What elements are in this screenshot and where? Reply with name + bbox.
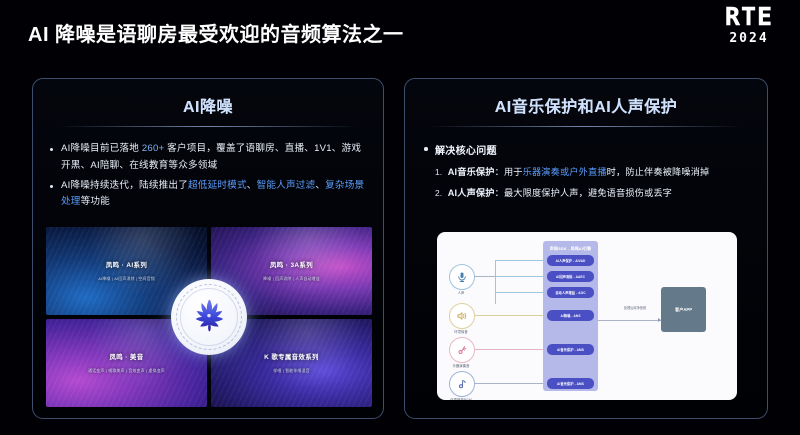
rte-logo-mark: RTE (712, 4, 786, 29)
text-run: AI降噪持续迭代，陆续推出了 (61, 180, 188, 191)
card-subtitle: 降噪 | 回声消除 | 人声自动增益 (211, 276, 372, 282)
bullet-item: AI降噪持续迭代，陆续推出了超低延时模式、智能人声过滤、复杂场景处理等功能 (49, 178, 369, 212)
text-run: ：用于 (495, 167, 523, 177)
text-run: 260+ (142, 143, 164, 154)
right-bullet-heading: 解决核心问题 (423, 142, 767, 157)
engine-block[interactable]: AI降噪 - ANS (547, 310, 594, 321)
node-label: 乐器演奏音 (437, 363, 485, 368)
connector-line (495, 260, 547, 261)
right-panel: AI音乐保护和AI人声保护 解决核心问题 1. AI音乐保护：用于乐器演奏或户外… (404, 78, 768, 419)
right-ordered-list: 1. AI音乐保护：用于乐器演奏或户外直播时，防止伴奏被降噪消掉 2. AI人声… (435, 166, 753, 200)
microphone-icon (449, 264, 475, 290)
list-item-index: 2. (435, 188, 445, 198)
text-run: ：最大限度保护人声，避免语音损伤或丢字 (495, 188, 672, 198)
text-run: 、 (247, 180, 257, 191)
architecture-diagram: 声网SDK - 凤鸣AI引擎 AI人声保护 - AIVAD AI回声消除 - A… (437, 232, 737, 400)
client-app-box[interactable]: 客户APP (661, 287, 706, 332)
engine-block[interactable]: 自动人声增益 - AGC (547, 287, 594, 298)
instrument-icon (449, 337, 475, 363)
rte-logo: RTE 2024 (712, 4, 786, 45)
sdk-engine-title: 声网SDK - 凤鸣AI引擎 (543, 246, 598, 252)
card-title: 凤鸣 · 美音 (46, 352, 207, 361)
connector-line (495, 292, 547, 293)
engine-block[interactable]: AI音乐保护 - AMS (547, 378, 594, 389)
list-item: 1. AI音乐保护：用于乐器演奏或户外直播时，防止伴奏被降噪消掉 (435, 166, 753, 178)
phoenix-emblem-icon (171, 279, 247, 355)
list-item-index: 1. (435, 167, 445, 177)
text-run: 智能人声过滤 (257, 180, 316, 191)
text-run: 超低延时模式 (188, 180, 247, 191)
right-panel-title: AI音乐保护和AI人声保护 (405, 93, 767, 117)
text-run: 时，防止伴奏被降噪消掉 (607, 167, 710, 177)
output-flow-label: 处理后纯净音频 (609, 305, 661, 310)
left-panel: AI降噪 AI降噪目前已落地 260+ 客户项目，覆盖了语聊房、直播、1V1、游… (32, 78, 384, 419)
list-item-text: AI音乐保护：用于乐器演奏或户外直播时，防止伴奏被降噪消掉 (448, 167, 710, 177)
node-label: 人声 (437, 290, 485, 295)
connector-line (495, 276, 547, 277)
connector-line (473, 383, 547, 384)
text-run: 等功能 (81, 196, 110, 207)
text-run: AI降噪目前已落地 (61, 143, 142, 154)
card-title: 凤鸣 · AI系列 (46, 260, 207, 269)
connector-line (473, 276, 495, 277)
node-label: 伴奏播放BGM (437, 397, 485, 400)
left-panel-title: AI降噪 (33, 93, 383, 117)
card-subtitle: 伴唱 | 智能伴唱混音 (211, 368, 372, 374)
connector-line (473, 349, 547, 350)
list-item: 2. AI人声保护：最大限度保护人声，避免语音损伤或丢字 (435, 187, 753, 199)
right-title-divider (430, 126, 741, 127)
engine-block[interactable]: AI回声消除 - AAEC (547, 271, 594, 282)
list-item-text: AI人声保护：最大限度保护人声，避免语音损伤或丢字 (448, 188, 672, 198)
engine-block[interactable]: AI音乐保护 - AMS (547, 344, 594, 355)
node-label: 环境噪音 (437, 329, 485, 334)
text-run: AI人声保护 (448, 188, 495, 198)
card-subtitle: AI降噪 | AI回声消除 | 空间音频 (46, 276, 207, 282)
card-title: 凤鸣 · 3A系列 (211, 260, 372, 269)
bullet-item: AI降噪目前已落地 260+ 客户项目，覆盖了语聊房、直播、1V1、游戏开黑、A… (49, 141, 369, 175)
page-title: AI 降噪是语聊房最受欢迎的音频算法之一 (28, 18, 404, 47)
card-subtitle: 通话变声 | 唱歌美声 | 音效变声 | 虚拟变声 (46, 368, 207, 374)
text-run: 、 (315, 180, 325, 191)
engine-block[interactable]: AI人声保护 - AIVAD (547, 255, 594, 266)
text-run: 乐器演奏或户外直播 (523, 167, 607, 177)
output-connector-line (598, 320, 661, 321)
rte-logo-year: 2024 (712, 32, 786, 45)
left-bullet-list: AI降噪目前已落地 260+ 客户项目，覆盖了语聊房、直播、1V1、游戏开黑、A… (49, 141, 369, 211)
text-run: AI音乐保护 (448, 167, 495, 177)
card-title: K 歌专属音效系列 (211, 352, 372, 361)
speaker-icon (449, 303, 475, 329)
music-note-icon (449, 371, 475, 397)
product-card-grid: 凤鸣 · AI系列 AI降噪 | AI回声消除 | 空间音频 凤鸣 · 3A系列… (46, 227, 372, 407)
left-title-divider (58, 126, 359, 127)
connector-line (495, 260, 496, 304)
connector-line (473, 315, 547, 316)
